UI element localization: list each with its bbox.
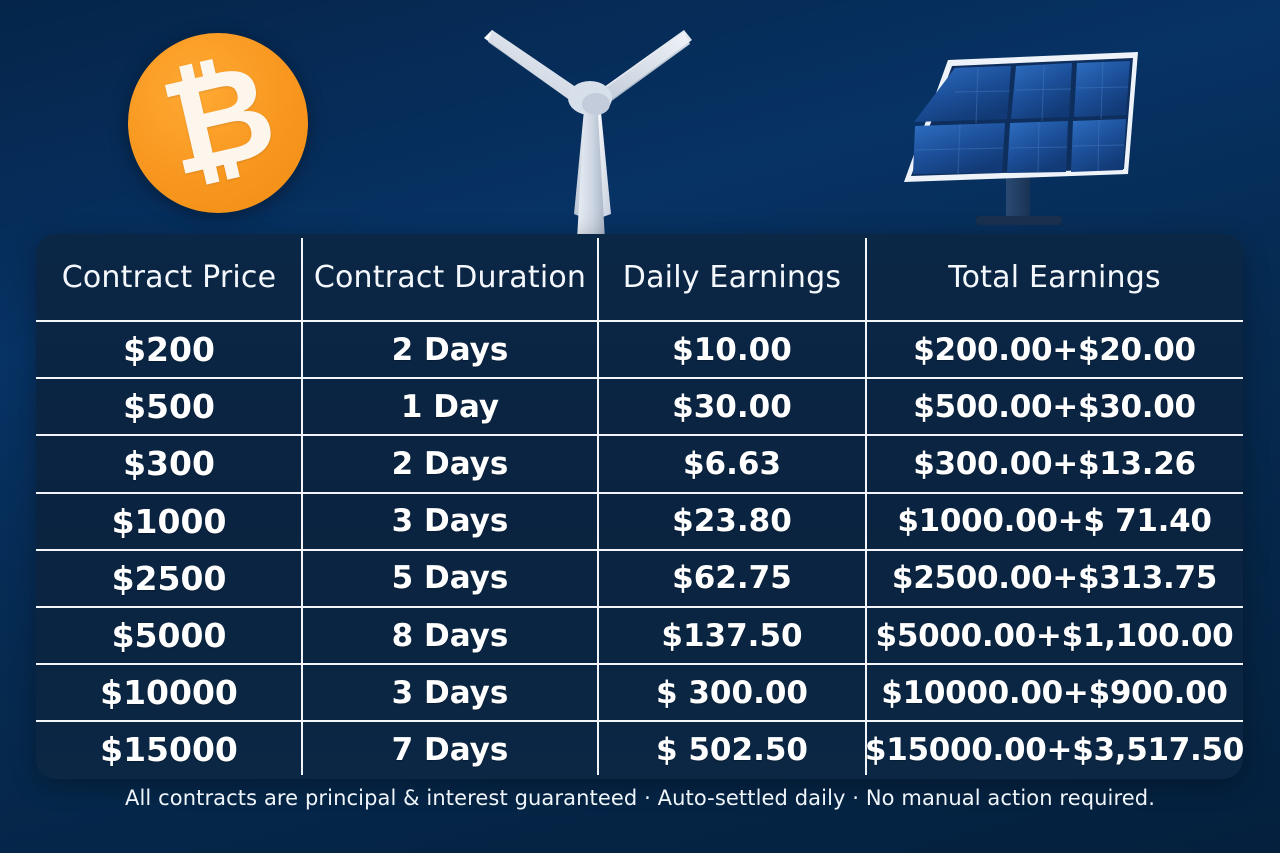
value-duration: 7 Days [392,732,509,768]
cell-contract-duration: 2 Days [302,322,598,377]
icon-banner: ₿ [0,0,1280,235]
value-price: $500 [123,387,215,426]
cell-daily-earnings: $6.63 [598,436,866,491]
wind-turbine-svg [470,18,710,240]
cell-contract-price: $300 [36,436,302,491]
value-duration: 3 Days [392,675,509,711]
table-header-row: Contract Price Contract Duration Daily E… [36,234,1243,320]
solar-panel-icon [892,42,1144,234]
cell-contract-duration: 8 Days [302,608,598,663]
value-total: $500.00+$30.00 [913,389,1196,425]
value-daily: $6.63 [683,446,781,482]
value-daily: $30.00 [672,389,792,425]
table-row[interactable]: $200 2 Days $10.00 $200.00+$20.00 [36,320,1243,377]
cell-daily-earnings: $10.00 [598,322,866,377]
table-row[interactable]: $2500 5 Days $62.75 $2500.00+$313.75 [36,549,1243,606]
value-total: $200.00+$20.00 [913,332,1196,368]
solar-panel-svg [892,42,1144,234]
value-total: $5000.00+$1,100.00 [876,618,1234,654]
header-contract-duration: Contract Duration [302,234,598,320]
cell-contract-duration: 5 Days [302,551,598,606]
value-duration: 2 Days [392,332,509,368]
cell-total-earnings: $200.00+$20.00 [866,322,1243,377]
value-duration: 3 Days [392,503,509,539]
cell-total-earnings: $2500.00+$313.75 [866,551,1243,606]
table-row[interactable]: $1000 3 Days $23.80 $1000.00+$ 71.40 [36,492,1243,549]
value-price: $2500 [112,559,227,598]
cell-contract-duration: 3 Days [302,494,598,549]
value-total: $15000.00+$3,517.50 [865,732,1243,768]
value-total: $10000.00+$900.00 [881,675,1227,711]
bitcoin-symbol-glyph: ₿ [152,43,287,196]
header-label: Daily Earnings [623,260,841,295]
cell-daily-earnings: $23.80 [598,494,866,549]
cell-contract-price: $500 [36,379,302,434]
table-row[interactable]: $300 2 Days $6.63 $300.00+$13.26 [36,434,1243,491]
cell-contract-price: $5000 [36,608,302,663]
value-price: $1000 [112,502,227,541]
cell-contract-price: $1000 [36,494,302,549]
table-row[interactable]: $500 1 Day $30.00 $500.00+$30.00 [36,377,1243,434]
cell-daily-earnings: $30.00 [598,379,866,434]
cell-contract-price: $200 [36,322,302,377]
value-daily: $10.00 [672,332,792,368]
cell-total-earnings: $10000.00+$900.00 [866,665,1243,720]
value-daily: $62.75 [672,560,792,596]
poster-root: ₿ [0,0,1280,853]
cell-total-earnings: $300.00+$13.26 [866,436,1243,491]
cell-contract-duration: 2 Days [302,436,598,491]
value-daily: $23.80 [672,503,792,539]
footer-disclaimer: All contracts are principal & interest g… [0,786,1280,810]
value-duration: 5 Days [392,560,509,596]
value-duration: 1 Day [401,389,499,425]
value-price: $5000 [112,616,227,655]
cell-contract-price: $2500 [36,551,302,606]
cell-daily-earnings: $62.75 [598,551,866,606]
value-daily: $ 502.50 [656,732,808,768]
value-daily: $137.50 [661,618,802,654]
value-duration: 8 Days [392,618,509,654]
cell-contract-duration: 1 Day [302,379,598,434]
earnings-table: Contract Price Contract Duration Daily E… [36,234,1243,779]
table-row[interactable]: $15000 7 Days $ 502.50 $15000.00+$3,517.… [36,720,1243,777]
header-label: Contract Duration [314,260,586,295]
value-duration: 2 Days [392,446,509,482]
header-contract-price: Contract Price [36,234,302,320]
cell-total-earnings: $1000.00+$ 71.40 [866,494,1243,549]
header-daily-earnings: Daily Earnings [598,234,866,320]
cell-contract-duration: 7 Days [302,722,598,777]
value-total: $2500.00+$313.75 [892,560,1217,596]
bitcoin-logo: ₿ [128,33,308,213]
cell-total-earnings: $5000.00+$1,100.00 [866,608,1243,663]
header-label: Contract Price [62,260,277,295]
value-total: $300.00+$13.26 [913,446,1196,482]
cell-contract-price: $10000 [36,665,302,720]
table-row[interactable]: $10000 3 Days $ 300.00 $10000.00+$900.00 [36,663,1243,720]
header-total-earnings: Total Earnings [866,234,1243,320]
cell-daily-earnings: $137.50 [598,608,866,663]
table-row[interactable]: $5000 8 Days $137.50 $5000.00+$1,100.00 [36,606,1243,663]
header-label: Total Earnings [948,260,1161,295]
wind-turbine-icon [470,18,710,240]
cell-total-earnings: $15000.00+$3,517.50 [866,722,1243,777]
bitcoin-coin-icon: ₿ [128,33,308,213]
cell-daily-earnings: $ 300.00 [598,665,866,720]
cell-total-earnings: $500.00+$30.00 [866,379,1243,434]
cell-contract-price: $15000 [36,722,302,777]
cell-contract-duration: 3 Days [302,665,598,720]
cell-daily-earnings: $ 502.50 [598,722,866,777]
value-price: $200 [123,330,215,369]
value-total: $1000.00+$ 71.40 [897,503,1211,539]
value-price: $15000 [100,730,238,769]
value-price: $300 [123,444,215,483]
value-daily: $ 300.00 [656,675,808,711]
value-price: $10000 [100,673,238,712]
